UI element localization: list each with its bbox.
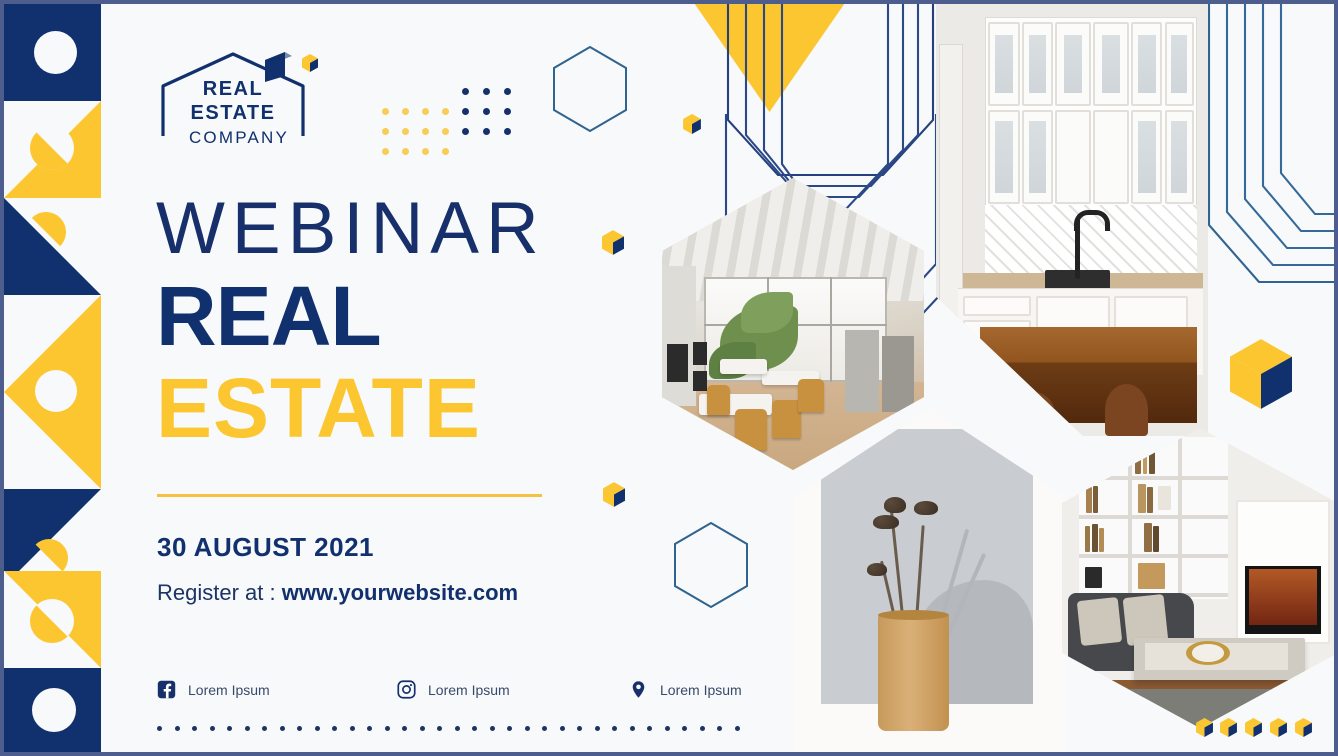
kitchen-upper-cabinets [985, 17, 1197, 209]
vase-pot [878, 614, 949, 731]
headline-estate: ESTATE [156, 366, 481, 450]
bottom-dot [577, 726, 582, 731]
social-label-facebook: Lorem Ipsum [188, 682, 270, 698]
cube-icon-bottom-4 [1270, 718, 1287, 737]
cube-icon-bottom-5 [1295, 718, 1312, 737]
bottom-dot [402, 726, 407, 731]
yellow-triangle-decor [692, 0, 847, 112]
logo-line-estate: ESTATE [159, 102, 307, 125]
location-pin-icon[interactable] [629, 680, 648, 699]
bottom-dot [332, 726, 337, 731]
kitchen-stool-left [1012, 392, 1056, 436]
strip-triangle-navy-1 [4, 198, 101, 295]
facebook-icon[interactable] [157, 680, 176, 699]
social-item-facebook[interactable]: Lorem Ipsum [157, 680, 270, 699]
bottom-dot [157, 726, 162, 731]
kitchen-tall-cabinet [939, 44, 963, 371]
headline-webinar: WEBINAR [156, 192, 546, 265]
bottom-dot [385, 726, 390, 731]
bottom-dot [280, 726, 285, 731]
divider-line [157, 494, 542, 497]
bottom-dot [560, 726, 565, 731]
bottom-dot-row [157, 726, 752, 734]
headline-real: REAL [156, 274, 381, 358]
bottom-dot [490, 726, 495, 731]
kitchen-interior-photo [936, 0, 1208, 436]
bottom-dot [717, 726, 722, 731]
logo-line-real: REAL [159, 78, 307, 101]
strip-triangle-yellow-1 [4, 101, 101, 198]
cube-icon-bottom-1 [1196, 718, 1213, 737]
register-prefix: Register at : [157, 580, 282, 605]
bottom-dot [700, 726, 705, 731]
bottom-dot [227, 726, 232, 731]
bottom-dot [665, 726, 670, 731]
main-content: REAL ESTATE COMPANY WEBINAR REAL ESTATE … [154, 4, 714, 752]
bottom-dot [735, 726, 740, 731]
bottom-dot [262, 726, 267, 731]
bottom-dot [630, 726, 635, 731]
social-row: Lorem Ipsum Lorem Ipsum Lorem Ipsum [157, 680, 777, 708]
event-date: 30 AUGUST 2021 [157, 532, 374, 563]
company-logo: REAL ESTATE COMPANY [159, 32, 349, 150]
bottom-dot [210, 726, 215, 731]
kitchen-faucet [1075, 218, 1080, 279]
cube-icon-bottom-3 [1245, 718, 1262, 737]
vase-still-life-photo [794, 408, 1066, 752]
strip-circle-white [34, 31, 77, 74]
kitchen-island [980, 327, 1198, 423]
living-bookshelf [1079, 437, 1228, 599]
bottom-dot [455, 726, 460, 731]
banner-canvas: REAL ESTATE COMPANY WEBINAR REAL ESTATE … [0, 0, 1338, 756]
bottom-dot [612, 726, 617, 731]
social-item-location[interactable]: Lorem Ipsum [629, 680, 742, 699]
strip-triangle-yellow-3 [4, 571, 101, 668]
register-website[interactable]: www.yourwebsite.com [282, 580, 518, 605]
bottom-dot [175, 726, 180, 731]
bottom-dot [350, 726, 355, 731]
register-line: Register at : www.yourwebsite.com [157, 580, 518, 606]
bottom-dot [507, 726, 512, 731]
bottom-dot [647, 726, 652, 731]
bottom-dot [472, 726, 477, 731]
bottom-dot [420, 726, 425, 731]
strip-block-navy-top [4, 4, 101, 101]
bottom-dot [682, 726, 687, 731]
social-label-location: Lorem Ipsum [660, 682, 742, 698]
cube-icon-bottom-2 [1220, 718, 1237, 737]
living-decor-bowl [1186, 641, 1230, 665]
logo-line-company: COMPANY [159, 128, 319, 148]
social-label-instagram: Lorem Ipsum [428, 682, 510, 698]
chevron-lines-right [1189, 0, 1338, 300]
living-room-photo [1062, 428, 1338, 728]
living-fireplace [1236, 500, 1330, 644]
bottom-dot [192, 726, 197, 731]
bottom-dot [542, 726, 547, 731]
bottom-dot [315, 726, 320, 731]
bottom-dot [525, 726, 530, 731]
social-item-instagram[interactable]: Lorem Ipsum [397, 680, 510, 699]
strip-block-navy-bottom [4, 668, 101, 752]
instagram-icon[interactable] [397, 680, 416, 699]
bottom-dot [367, 726, 372, 731]
cube-icon-large [1230, 338, 1292, 410]
kitchen-stool-right [1105, 384, 1149, 436]
bottom-dot [437, 726, 442, 731]
left-decorative-strip [4, 4, 101, 752]
strip-triangle-yellow-2 [4, 295, 101, 489]
bottom-dot [595, 726, 600, 731]
bottom-dot [297, 726, 302, 731]
bottom-dot [245, 726, 250, 731]
